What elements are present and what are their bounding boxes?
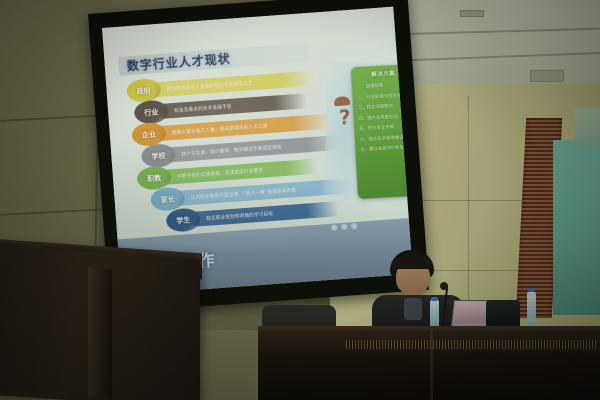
water-bottle	[430, 300, 439, 328]
dark-bag	[486, 300, 520, 328]
table-seam	[430, 330, 433, 400]
pager-dot	[341, 224, 347, 230]
ceiling-vent	[460, 10, 484, 17]
table-grille	[346, 340, 596, 349]
bottle-cap	[528, 288, 535, 292]
wall-seam	[468, 96, 469, 326]
bottle-cap	[431, 297, 438, 301]
teal-wall-panel	[575, 108, 600, 148]
presenter-fringe	[392, 256, 432, 269]
slide-row-label: 学生	[165, 207, 201, 232]
water-bottle	[527, 292, 536, 326]
microphone-head	[440, 282, 448, 290]
photograph-scene: 数字行业人才现状 把为改善提供人员和补贴的全面政策人才政府标准及重点的技术发展不…	[0, 0, 600, 400]
pager-dot	[351, 223, 357, 229]
table-skirt	[258, 352, 600, 400]
presenter-shirt	[404, 298, 422, 320]
pager-dot	[331, 224, 337, 230]
podium-edge	[88, 266, 112, 399]
teal-wall-panel	[553, 140, 600, 315]
slide-row-list: 把为改善提供人员和补贴的全面政策人才政府标准及重点的技术发展不足行业需要大量合格…	[126, 65, 342, 234]
ceiling-vent	[530, 70, 564, 82]
